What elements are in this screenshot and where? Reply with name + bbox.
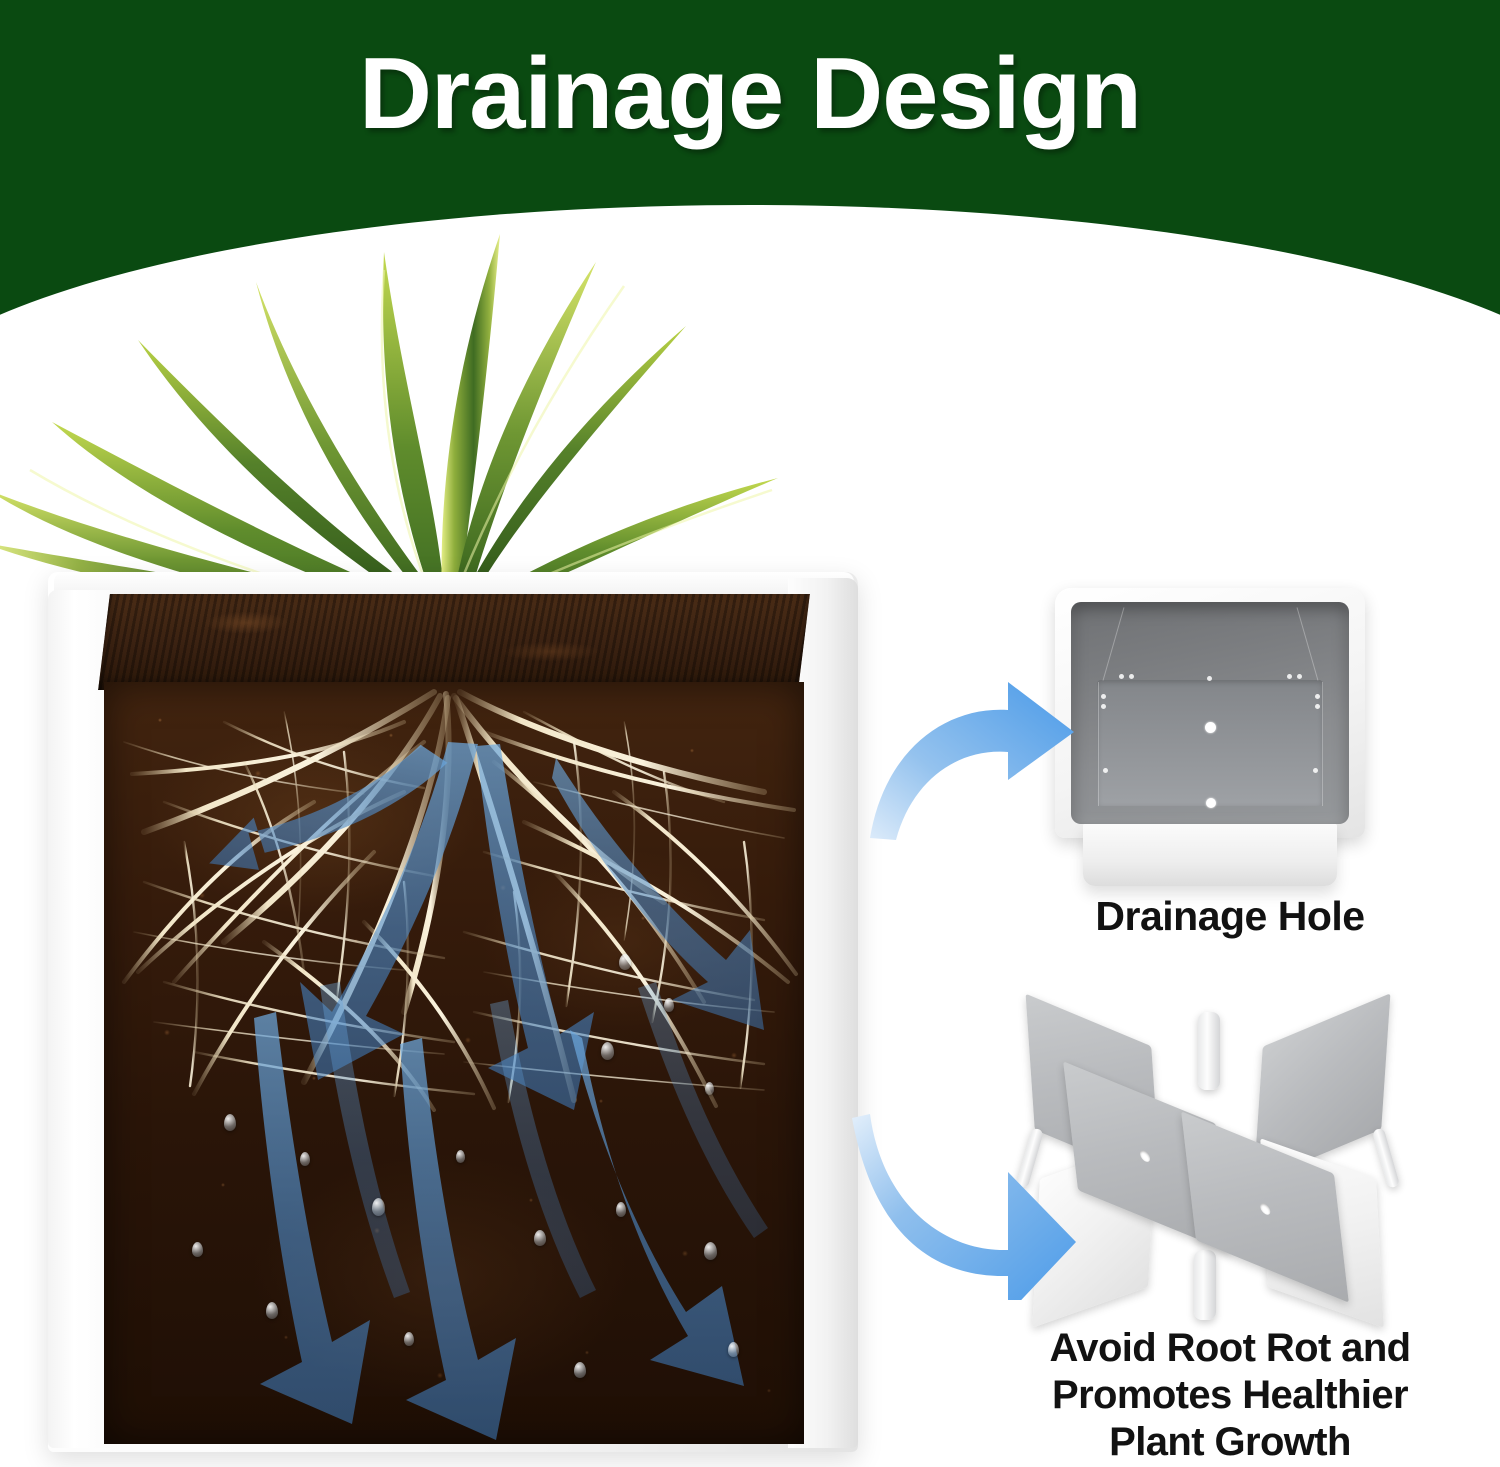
- water-droplet: [534, 1230, 546, 1246]
- water-droplet: [616, 1202, 626, 1217]
- drainage-hole: [1205, 722, 1216, 733]
- caption-line-1: Avoid Root Rot and: [960, 1325, 1500, 1372]
- soil-cross-section: [104, 682, 804, 1444]
- water-droplet: [601, 1042, 614, 1060]
- water-droplet: [664, 998, 674, 1012]
- pot-seam: [1297, 607, 1319, 680]
- arrow-to-drainage-hole: [862, 648, 1122, 848]
- caption-drainage-hole: Drainage Hole: [960, 892, 1500, 940]
- drainage-hole: [1260, 1202, 1271, 1217]
- drainage-hole-small: [1207, 676, 1212, 681]
- planter-left-wall: [48, 590, 110, 1448]
- caption-line-2: Promotes Healthier: [960, 1372, 1500, 1419]
- drainage-hole-small: [1315, 704, 1320, 709]
- pot-seam: [1322, 682, 1323, 806]
- water-droplet: [192, 1242, 203, 1257]
- drainage-hole: [1139, 1149, 1150, 1164]
- corner-post: [1194, 1250, 1216, 1320]
- arrow-to-exploded-view: [848, 1100, 1118, 1300]
- water-droplet: [619, 954, 631, 970]
- caption-line-3: Plant Growth: [960, 1419, 1500, 1466]
- drainage-hole-small: [1297, 674, 1302, 679]
- soil-surface: [98, 594, 810, 690]
- water-droplet: [224, 1114, 236, 1131]
- drainage-hole: [1206, 798, 1216, 808]
- pot-floor: [1097, 680, 1323, 806]
- edge-rail: [1372, 1128, 1400, 1189]
- corner-post: [1198, 1012, 1220, 1090]
- drainage-hole-small: [1287, 674, 1292, 679]
- caption-root-rot: Avoid Root Rot and Promotes Healthier Pl…: [960, 1325, 1500, 1467]
- water-droplet: [574, 1362, 586, 1378]
- water-droplet: [300, 1152, 310, 1166]
- drainage-hole-small: [1315, 694, 1320, 699]
- water-droplet: [404, 1332, 414, 1346]
- planter-body: [48, 572, 858, 1452]
- planter-cross-section: [0, 180, 900, 1460]
- water-droplet: [372, 1198, 385, 1216]
- water-flow-arrows: [104, 682, 804, 1444]
- water-droplet: [705, 1082, 714, 1095]
- drainage-hole-small: [1129, 674, 1134, 679]
- water-droplet: [728, 1342, 739, 1357]
- water-droplet: [266, 1302, 278, 1319]
- water-droplet: [456, 1150, 465, 1163]
- drainage-hole-small: [1313, 768, 1318, 773]
- water-droplet: [704, 1242, 717, 1260]
